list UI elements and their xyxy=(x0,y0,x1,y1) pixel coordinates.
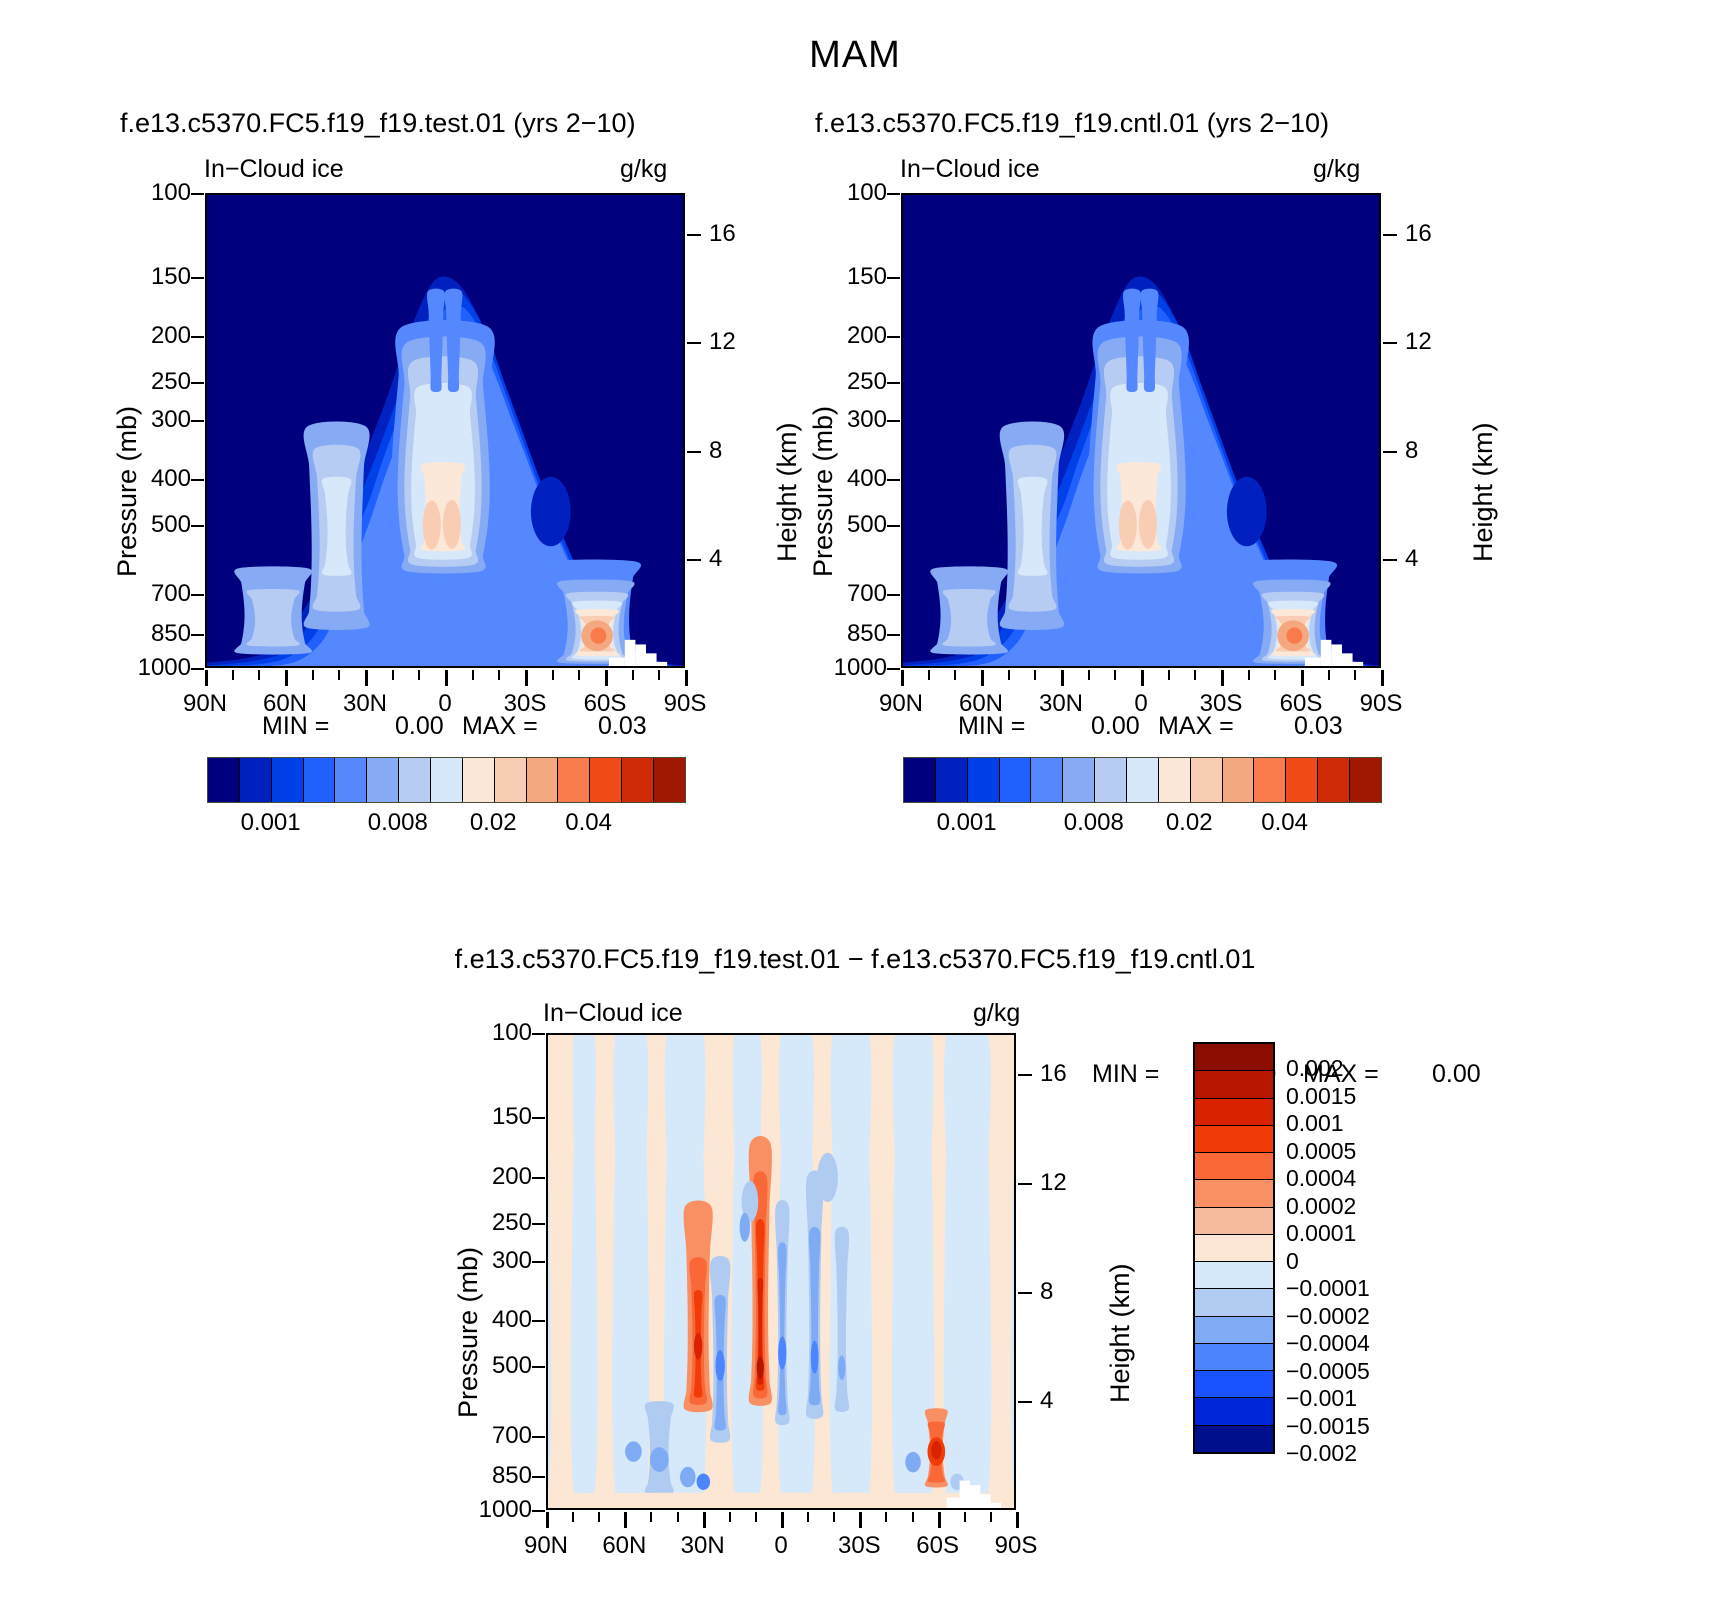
latitude-tick-mark-minor xyxy=(658,670,660,680)
colorbar-swatch xyxy=(622,758,654,802)
colorbar-tick-label: 0.04 xyxy=(539,809,639,837)
colorbar-swatch xyxy=(431,758,463,802)
latitude-tick-mark-minor xyxy=(928,670,930,680)
colorbar-swatch xyxy=(968,758,1000,802)
latitude-tick-mark-major xyxy=(1016,1512,1019,1528)
colorbar-swatch xyxy=(1031,758,1063,802)
height-tick-mark xyxy=(687,451,701,453)
legend-swatch xyxy=(1195,1099,1273,1126)
pressure-tick-mark xyxy=(532,1320,545,1322)
terrain-mask-step xyxy=(960,1481,970,1508)
diff-anomaly-upper-negative xyxy=(817,1153,838,1202)
pressure-tick-label: 700 xyxy=(825,580,887,608)
latitude-tick-mark-minor xyxy=(1088,670,1090,680)
diff-band-weak-negative xyxy=(573,1035,596,1508)
height-tick-label: 16 xyxy=(1040,1060,1067,1088)
latitude-tick-mark-minor xyxy=(1114,670,1116,680)
terrain-mask-step xyxy=(635,644,646,666)
colorbar-swatch xyxy=(654,758,685,802)
height-tick-label: 4 xyxy=(1405,545,1418,573)
pressure-tick-mark xyxy=(191,420,204,422)
latitude-tick-mark-minor xyxy=(578,670,580,680)
colorbar-swatch xyxy=(367,758,399,802)
latitude-tick-mark-minor xyxy=(258,670,260,680)
diff-anomaly-so-peak xyxy=(931,1441,941,1459)
colorbar-swatch xyxy=(335,758,367,802)
colorbar-swatch xyxy=(936,758,968,802)
height-tick-mark xyxy=(1018,1292,1032,1294)
diff-anomaly-nh-surface-core xyxy=(697,1474,710,1490)
latitude-tick-mark-minor xyxy=(1328,670,1330,680)
pressure-tick-label: 1000 xyxy=(129,654,191,682)
height-tick-label: 4 xyxy=(1040,1387,1053,1415)
latitude-tick-mark-minor xyxy=(312,670,314,680)
height-tick-label: 12 xyxy=(1405,328,1432,356)
diff-anomaly-nh-surface-negative xyxy=(680,1467,696,1488)
panel-1-y2axis-title: Height (km) xyxy=(772,422,803,562)
diff-panel-yaxis-title: Pressure (mb) xyxy=(453,1247,484,1418)
latitude-tick-label: 90S xyxy=(978,1532,1054,1560)
latitude-tick-mark-minor xyxy=(1168,670,1170,680)
latitude-tick-mark-major xyxy=(445,670,448,686)
latitude-tick-mark-major xyxy=(525,670,528,686)
contour-band-sh-minimum xyxy=(1227,477,1267,547)
latitude-tick-mark-minor xyxy=(498,670,500,680)
pressure-tick-mark xyxy=(532,1366,545,1368)
diff-anomaly-trop-negative-core xyxy=(778,1336,786,1369)
colorbar-tick-label: 0.04 xyxy=(1235,809,1335,837)
legend-label: 0.0005 xyxy=(1286,1138,1356,1165)
panel-2-case-title: f.e13.c5370.FC5.f19_f19.cntl.01 (yrs 2−1… xyxy=(815,108,1329,139)
pressure-tick-label: 100 xyxy=(129,179,191,207)
contour-band-plume-max xyxy=(443,500,461,549)
terrain-mask-step xyxy=(609,658,625,666)
colorbar-swatch xyxy=(399,758,431,802)
diff-anomaly-equator-peak xyxy=(757,1356,764,1379)
colorbar-swatch xyxy=(1286,758,1318,802)
diff-band-weak-negative xyxy=(613,1035,648,1508)
pressure-tick-mark xyxy=(532,1177,545,1179)
pressure-tick-mark xyxy=(532,1476,545,1478)
pressure-tick-label: 1000 xyxy=(825,654,887,682)
latitude-tick-mark-minor xyxy=(1008,670,1010,680)
latitude-tick-mark-minor xyxy=(885,1512,887,1522)
colorbar-swatch xyxy=(558,758,590,802)
pressure-tick-mark xyxy=(191,594,204,596)
diff-panel-max-value: 0.00 xyxy=(1432,1060,1481,1089)
latitude-tick-mark-major xyxy=(546,1512,549,1528)
pressure-tick-mark xyxy=(532,1033,545,1035)
latitude-tick-mark-minor xyxy=(338,670,340,680)
diff-anomaly-nh-lowlevel-core xyxy=(650,1447,669,1472)
terrain-mask-step xyxy=(646,653,657,666)
pressure-tick-mark xyxy=(532,1223,545,1225)
legend-label: 0.0002 xyxy=(1286,1193,1356,1220)
legend-swatch xyxy=(1195,1071,1273,1098)
diff-panel-units: g/kg xyxy=(973,999,1020,1028)
height-tick-label: 16 xyxy=(709,220,736,248)
colorbar-tick-label: 0.001 xyxy=(917,809,1017,837)
latitude-tick-label: 60S xyxy=(900,1532,976,1560)
panel-2-field-name: In−Cloud ice xyxy=(900,155,1040,184)
colorbar-swatch xyxy=(1318,758,1350,802)
diff-anomaly-nh-positive-core xyxy=(694,1333,702,1360)
latitude-tick-mark-major xyxy=(1141,670,1144,686)
latitude-tick-mark-minor xyxy=(598,1512,600,1522)
latitude-tick-mark-minor xyxy=(472,670,474,680)
colorbar-swatch xyxy=(495,758,527,802)
colorbar-swatch xyxy=(208,758,240,802)
latitude-tick-mark-major xyxy=(285,670,288,686)
colorbar-tick-label: 0.02 xyxy=(443,809,543,837)
colorbar-swatch xyxy=(527,758,559,802)
colorbar-swatch xyxy=(904,758,936,802)
legend-label: 0.0004 xyxy=(1286,1165,1356,1192)
diff-anomaly-nh-negative-core xyxy=(716,1350,725,1381)
pressure-tick-label: 250 xyxy=(825,368,887,396)
height-tick-label: 8 xyxy=(1040,1278,1053,1306)
height-tick-mark xyxy=(687,342,701,344)
latitude-tick-mark-minor xyxy=(1248,670,1250,680)
pressure-tick-mark xyxy=(532,1261,545,1263)
latitude-tick-mark-minor xyxy=(990,1512,992,1522)
diff-band-weak-positive xyxy=(548,1035,575,1508)
colorbar-swatch xyxy=(1000,758,1032,802)
colorbar-swatch xyxy=(1254,758,1286,802)
diff-anomaly-sh-negative-core xyxy=(811,1341,819,1374)
legend-label: −0.001 xyxy=(1286,1385,1357,1412)
panel-2-units: g/kg xyxy=(1313,155,1360,184)
pressure-tick-label: 150 xyxy=(825,263,887,291)
terrain-mask-step xyxy=(1305,658,1321,666)
pressure-tick-label: 700 xyxy=(129,580,191,608)
latitude-tick-mark-minor xyxy=(632,670,634,680)
height-tick-mark xyxy=(1018,1074,1032,1076)
pressure-tick-mark xyxy=(887,594,900,596)
terrain-mask-step xyxy=(1342,653,1353,666)
latitude-tick-label: 30N xyxy=(1023,690,1099,718)
panel-1-min-value: 0.00 xyxy=(395,712,444,741)
latitude-tick-mark-major xyxy=(781,1512,784,1528)
contour-band-plume-max xyxy=(1119,501,1137,550)
height-tick-label: 16 xyxy=(1405,220,1432,248)
colorbar-swatch xyxy=(1127,758,1159,802)
latitude-tick-mark-minor xyxy=(755,1512,757,1522)
pressure-tick-label: 150 xyxy=(129,263,191,291)
legend-swatch xyxy=(1195,1426,1273,1452)
panel-2-min-value: 0.00 xyxy=(1091,712,1140,741)
latitude-tick-mark-minor xyxy=(418,670,420,680)
legend-label: 0 xyxy=(1286,1248,1299,1275)
colorbar-swatch xyxy=(240,758,272,802)
diff-panel-case-title: f.e13.c5370.FC5.f19_f19.test.01 − f.e13.… xyxy=(0,944,1710,975)
legend-label: −0.0004 xyxy=(1286,1330,1370,1357)
panel-2-max-label: MAX = xyxy=(1158,712,1234,741)
panel-2-plot-area[interactable] xyxy=(901,193,1381,668)
height-tick-mark xyxy=(1383,451,1397,453)
contour-band-plume-max xyxy=(1139,500,1157,549)
latitude-tick-label: 60N xyxy=(586,1532,662,1560)
legend-swatch xyxy=(1195,1153,1273,1180)
panel-1-yaxis-title: Pressure (mb) xyxy=(112,406,143,577)
pressure-tick-mark xyxy=(887,525,900,527)
height-tick-label: 12 xyxy=(1040,1169,1067,1197)
height-tick-mark xyxy=(1383,342,1397,344)
panel-2-y2axis-title: Height (km) xyxy=(1468,422,1499,562)
latitude-tick-mark-major xyxy=(605,670,608,686)
legend-swatch xyxy=(1195,1289,1273,1316)
height-tick-mark xyxy=(1383,234,1397,236)
diff-band-surface-weak-positive xyxy=(548,1493,1014,1508)
latitude-tick-mark-minor xyxy=(1194,670,1196,680)
pressure-tick-mark xyxy=(191,634,204,636)
panel-1-min-label: MIN = xyxy=(262,712,329,741)
latitude-tick-label: 30S xyxy=(821,1532,897,1560)
legend-swatch xyxy=(1195,1262,1273,1289)
latitude-tick-mark-major xyxy=(1221,670,1224,686)
contour-band-sh-minimum xyxy=(531,477,571,547)
legend-label: 0.0001 xyxy=(1286,1220,1356,1247)
diff-band-weak-positive xyxy=(867,1035,896,1508)
latitude-tick-mark-minor xyxy=(1274,670,1276,680)
contour-band-plume-max xyxy=(423,501,441,550)
diff-band-weak-negative xyxy=(893,1035,934,1508)
colorbar-swatch xyxy=(1223,758,1255,802)
pressure-tick-mark xyxy=(191,277,204,279)
pressure-tick-mark xyxy=(887,420,900,422)
diff-panel-min-label: MIN = xyxy=(1092,1060,1159,1089)
latitude-tick-label: 90N xyxy=(167,690,243,718)
pressure-tick-mark xyxy=(887,479,900,481)
legend-label: 0.0015 xyxy=(1286,1083,1356,1110)
latitude-tick-label: 0 xyxy=(743,1532,819,1560)
panel-2-min-label: MIN = xyxy=(958,712,1025,741)
colorbar-swatch xyxy=(1095,758,1127,802)
pressure-tick-mark xyxy=(191,382,204,384)
latitude-tick-mark-minor xyxy=(833,1512,835,1522)
panel-2-yaxis-title: Pressure (mb) xyxy=(808,406,839,577)
colorbar-swatch xyxy=(590,758,622,802)
pressure-tick-mark xyxy=(532,1117,545,1119)
legend-swatch xyxy=(1195,1044,1273,1071)
latitude-tick-label: 30N xyxy=(665,1532,741,1560)
diff-band-weak-positive xyxy=(593,1035,616,1508)
pressure-tick-label: 200 xyxy=(129,322,191,350)
pressure-tick-label: 850 xyxy=(825,620,887,648)
pressure-tick-mark xyxy=(887,668,900,670)
terrain-mask-step xyxy=(1331,644,1342,666)
colorbar-swatch xyxy=(1063,758,1095,802)
diff-panel-plot-area[interactable] xyxy=(546,1033,1016,1510)
pressure-tick-label: 100 xyxy=(825,179,887,207)
latitude-tick-mark-minor xyxy=(392,670,394,680)
colorbar-tick-label: 0.008 xyxy=(348,809,448,837)
latitude-tick-label: 90S xyxy=(647,690,723,718)
pressure-tick-label: 850 xyxy=(129,620,191,648)
panel-1-plot-area[interactable] xyxy=(205,193,685,668)
diff-anomaly-so-negative xyxy=(905,1452,921,1473)
pressure-tick-label: 200 xyxy=(825,322,887,350)
latitude-tick-mark-minor xyxy=(677,1512,679,1522)
height-tick-label: 12 xyxy=(709,328,736,356)
latitude-tick-mark-minor xyxy=(650,1512,652,1522)
latitude-tick-mark-minor xyxy=(807,1512,809,1522)
latitude-tick-label: 90S xyxy=(1343,690,1419,718)
height-tick-label: 4 xyxy=(709,545,722,573)
pressure-tick-label: 1000 xyxy=(470,1496,532,1524)
colorbar-tick-label: 0.008 xyxy=(1044,809,1144,837)
latitude-tick-mark-minor xyxy=(572,1512,574,1522)
pressure-tick-mark xyxy=(887,634,900,636)
diff-band-weak-negative xyxy=(944,1035,991,1508)
pressure-tick-label: 250 xyxy=(129,368,191,396)
legend-swatch xyxy=(1195,1344,1273,1371)
pressure-tick-mark xyxy=(532,1510,545,1512)
latitude-tick-mark-major xyxy=(205,670,208,686)
pressure-tick-mark xyxy=(532,1436,545,1438)
legend-swatch xyxy=(1195,1126,1273,1153)
pressure-tick-mark xyxy=(191,479,204,481)
pressure-tick-mark xyxy=(191,336,204,338)
colorbar-swatch xyxy=(304,758,336,802)
colorbar-swatch xyxy=(1350,758,1381,802)
height-tick-mark xyxy=(687,559,701,561)
colorbar-tick-label: 0.02 xyxy=(1139,809,1239,837)
height-tick-mark xyxy=(687,234,701,236)
diff-panel-field-name: In−Cloud ice xyxy=(543,999,683,1028)
panel-1-colorbar[interactable] xyxy=(207,757,686,803)
latitude-tick-mark-major xyxy=(365,670,368,686)
latitude-tick-mark-major xyxy=(1061,670,1064,686)
latitude-tick-mark-major xyxy=(938,1512,941,1528)
diff-panel-y2axis-title: Height (km) xyxy=(1105,1263,1136,1403)
latitude-tick-mark-major xyxy=(685,670,688,686)
pressure-tick-label: 100 xyxy=(470,1019,532,1047)
pressure-tick-mark xyxy=(887,193,900,195)
terrain-mask-step xyxy=(947,1497,960,1508)
diff-anomaly-arctic-negative xyxy=(625,1441,642,1462)
latitude-tick-mark-major xyxy=(703,1512,706,1528)
height-tick-mark xyxy=(1018,1183,1032,1185)
pressure-tick-mark xyxy=(887,382,900,384)
terrain-mask-step xyxy=(991,1503,1001,1508)
legend-swatch xyxy=(1195,1398,1273,1425)
pressure-tick-label: 150 xyxy=(470,1103,532,1131)
diff-band-weak-positive xyxy=(987,1035,1014,1508)
panel-1-units: g/kg xyxy=(620,155,667,184)
legend-swatch xyxy=(1195,1317,1273,1344)
height-tick-label: 8 xyxy=(709,437,722,465)
latitude-tick-mark-minor xyxy=(729,1512,731,1522)
latitude-tick-mark-major xyxy=(1381,670,1384,686)
legend-label: −0.0015 xyxy=(1286,1413,1370,1440)
legend-label: −0.0001 xyxy=(1286,1275,1370,1302)
legend-label: −0.002 xyxy=(1286,1440,1357,1467)
latitude-tick-mark-minor xyxy=(964,1512,966,1522)
colorbar-swatch xyxy=(463,758,495,802)
latitude-tick-mark-major xyxy=(1301,670,1304,686)
pressure-tick-mark xyxy=(887,277,900,279)
height-tick-mark xyxy=(1383,559,1397,561)
latitude-tick-label: 90N xyxy=(508,1532,584,1560)
panel-1-case-title: f.e13.c5370.FC5.f19_f19.test.01 (yrs 2−1… xyxy=(120,108,636,139)
legend-label: −0.0002 xyxy=(1286,1303,1370,1330)
pressure-tick-mark xyxy=(887,336,900,338)
latitude-tick-mark-minor xyxy=(552,670,554,680)
page-title: MAM xyxy=(0,34,1710,77)
terrain-mask-step xyxy=(970,1485,980,1508)
terrain-mask-step xyxy=(657,662,668,666)
latitude-tick-mark-minor xyxy=(1034,670,1036,680)
latitude-tick-mark-minor xyxy=(1354,670,1356,680)
latitude-tick-label: 30N xyxy=(327,690,403,718)
terrain-mask-step xyxy=(625,640,636,666)
diff-anomaly-sh-negative-core xyxy=(838,1355,845,1380)
pressure-tick-mark xyxy=(191,525,204,527)
height-tick-label: 8 xyxy=(1405,437,1418,465)
panel-1-max-value: 0.03 xyxy=(598,712,647,741)
colorbar-swatch xyxy=(1159,758,1191,802)
panel-1-max-label: MAX = xyxy=(462,712,538,741)
latitude-tick-mark-major xyxy=(624,1512,627,1528)
legend-swatch xyxy=(1195,1371,1273,1398)
legend-swatch xyxy=(1195,1235,1273,1262)
panel-1-field-name: In−Cloud ice xyxy=(204,155,344,184)
terrain-mask-step xyxy=(980,1494,990,1508)
pressure-tick-label: 700 xyxy=(470,1422,532,1450)
legend-label: 0.002 xyxy=(1286,1055,1344,1082)
diff-panel-legend[interactable] xyxy=(1193,1042,1275,1454)
latitude-tick-mark-major xyxy=(859,1512,862,1528)
panel-2-colorbar[interactable] xyxy=(903,757,1382,803)
terrain-mask-step xyxy=(1353,662,1364,666)
legend-label: −0.0005 xyxy=(1286,1358,1370,1385)
pressure-tick-mark xyxy=(191,668,204,670)
legend-swatch xyxy=(1195,1208,1273,1235)
height-tick-mark xyxy=(1018,1401,1032,1403)
pressure-tick-label: 200 xyxy=(470,1163,532,1191)
pressure-tick-mark xyxy=(191,193,204,195)
panel-2-max-value: 0.03 xyxy=(1294,712,1343,741)
terrain-mask-step xyxy=(1321,640,1332,666)
latitude-tick-label: 90N xyxy=(863,690,939,718)
pressure-tick-label: 250 xyxy=(470,1209,532,1237)
latitude-tick-mark-major xyxy=(901,670,904,686)
latitude-tick-mark-major xyxy=(981,670,984,686)
latitude-tick-mark-minor xyxy=(954,670,956,680)
pressure-tick-label: 850 xyxy=(470,1462,532,1490)
colorbar-swatch xyxy=(272,758,304,802)
diff-anomaly-upper-negative-core xyxy=(740,1213,750,1242)
colorbar-swatch xyxy=(1191,758,1223,802)
latitude-tick-mark-minor xyxy=(232,670,234,680)
legend-label: 0.001 xyxy=(1286,1110,1344,1137)
colorbar-tick-label: 0.001 xyxy=(221,809,321,837)
latitude-tick-mark-minor xyxy=(912,1512,914,1522)
legend-swatch xyxy=(1195,1180,1273,1207)
